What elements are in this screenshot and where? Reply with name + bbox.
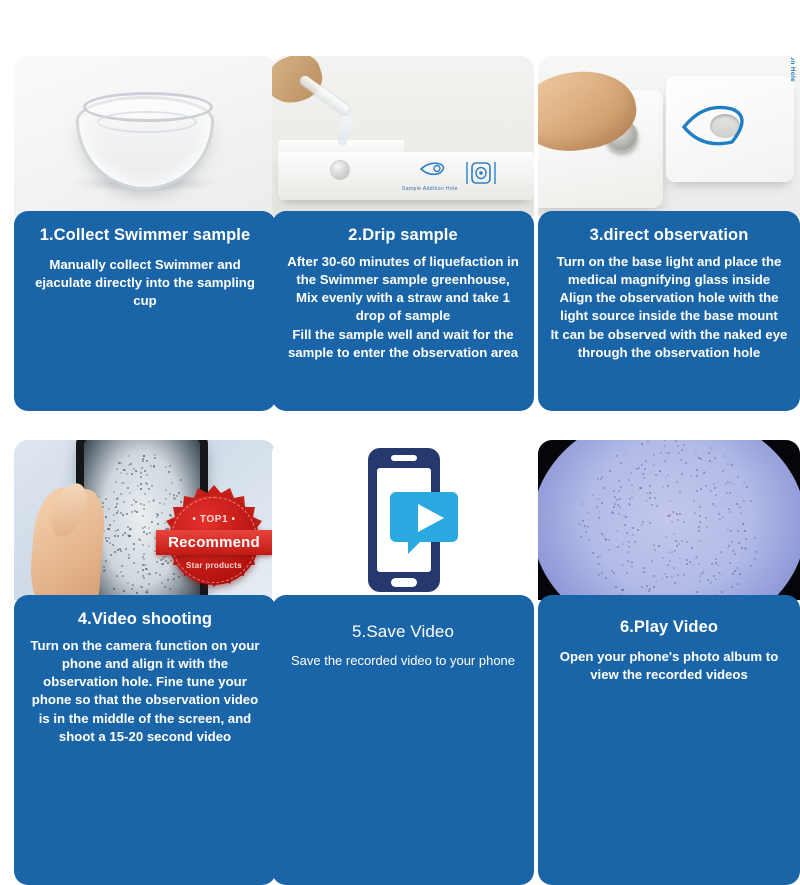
step-4-panel: 4.Video shooting Turn on the camera func… [14, 595, 276, 885]
step-4-title: 4.Video shooting [22, 609, 268, 630]
step-5-body: Save the recorded video to your phone [280, 652, 526, 670]
step-card-2[interactable]: Sample Addition Hole 2.Drip sample After… [272, 56, 534, 362]
step-card-6[interactable]: 6.Play Video Open your phone's photo alb… [538, 440, 800, 746]
step-3-title: 3.direct observation [546, 225, 792, 246]
badge-ribbon-text: Recommend [156, 530, 272, 555]
step-card-5[interactable]: 5.Save Video Save the recorded video to … [272, 440, 534, 746]
play-video-photo [538, 440, 800, 600]
badge-top-text: • TOP1 • [162, 514, 266, 525]
direct-observation-photo: Sample Addition Hole [538, 56, 800, 216]
step-card-1[interactable]: 1.Collect Swimmer sample Manually collec… [14, 56, 276, 362]
step-1-panel: 1.Collect Swimmer sample Manually collec… [14, 211, 276, 411]
recommend-badge: • TOP1 • Recommend Star products [162, 488, 266, 592]
phone-video-icon [272, 440, 534, 600]
device-label-text: Sample Addition Hole [402, 186, 458, 192]
step-2-body: After 30-60 minutes of liquefaction in t… [280, 253, 526, 362]
badge-bottom-text: Star products [162, 561, 266, 570]
step-3-body: Turn on the base light and place the med… [546, 253, 792, 362]
drip-sample-photo: Sample Addition Hole [272, 56, 534, 216]
step-card-4[interactable]: • TOP1 • Recommend Star products 4.Video… [14, 440, 276, 746]
step-2-title: 2.Drip sample [280, 225, 526, 246]
step-1-body: Manually collect Swimmer and ejaculate d… [22, 256, 268, 311]
step-3-panel: 3.direct observation Turn on the base li… [538, 211, 800, 411]
step-5-panel: 5.Save Video Save the recorded video to … [272, 595, 534, 885]
step-card-3[interactable]: Sample Addition Hole 3.direct observatio… [538, 56, 800, 362]
steps-board: 1.Collect Swimmer sample Manually collec… [0, 0, 800, 800]
sample-addition-hole-label: Sample Addition Hole [789, 56, 796, 82]
sampling-cup-photo [14, 56, 276, 216]
step-6-body: Open your phone's photo album to view th… [546, 648, 792, 684]
video-shooting-photo: • TOP1 • Recommend Star products [14, 440, 276, 600]
step-5-title: 5.Save Video [280, 621, 526, 642]
step-6-panel: 6.Play Video Open your phone's photo alb… [538, 595, 800, 885]
save-video-icon-illustration [272, 440, 534, 600]
observation-window-icon [464, 160, 498, 186]
step-4-body: Turn on the camera function on your phon… [22, 637, 268, 746]
step-1-title: 1.Collect Swimmer sample [22, 225, 268, 246]
step-2-panel: 2.Drip sample After 30-60 minutes of liq… [272, 211, 534, 411]
sample-drop-icon [418, 160, 448, 178]
step-6-title: 6.Play Video [546, 617, 792, 638]
